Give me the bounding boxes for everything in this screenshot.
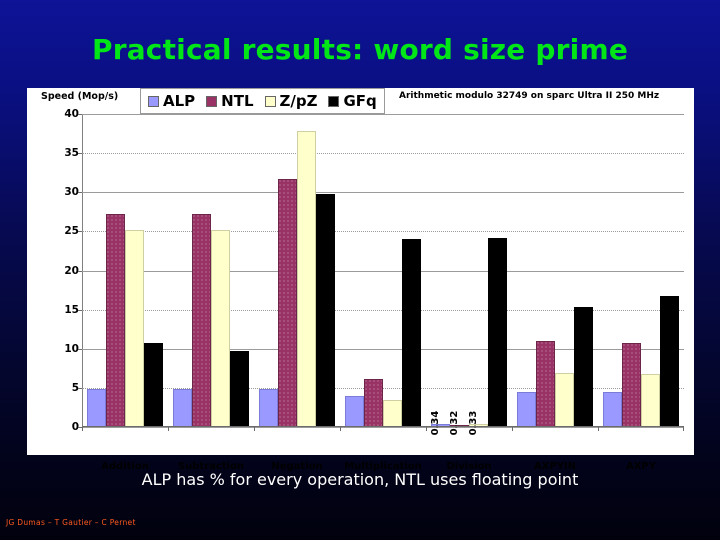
chart-legend: ALPNTLZ/pZGFq xyxy=(140,88,385,114)
x-tick-mark xyxy=(340,427,341,431)
x-tick-mark xyxy=(598,427,599,431)
bar-alp[interactable] xyxy=(173,389,192,427)
bar-ntl[interactable] xyxy=(364,379,383,428)
bars-container xyxy=(168,114,254,427)
x-tick-mark xyxy=(683,427,684,431)
bar-gfq[interactable] xyxy=(660,296,679,427)
y-tick-label: 20 xyxy=(39,265,79,277)
slide-footer: JG Dumas – T Gautier – C Pernet xyxy=(6,518,136,527)
bar-group: Subtraction xyxy=(168,114,254,427)
slide-canvas: Practical results: word size prime Speed… xyxy=(0,0,720,540)
bar-alp[interactable] xyxy=(603,392,622,427)
bar-z-pz[interactable] xyxy=(555,373,574,427)
bar-value-label: 0.34 xyxy=(430,411,441,436)
bar-value-label: 0.33 xyxy=(468,411,479,436)
bar-ntl[interactable] xyxy=(106,214,125,427)
legend-label: NTL xyxy=(221,94,253,109)
x-tick-mark xyxy=(512,427,513,431)
bar-alp[interactable] xyxy=(517,392,536,427)
bar-group: AXPYIN xyxy=(512,114,598,427)
x-axis-line xyxy=(82,426,684,427)
bar-group: 0.340.320.33Division xyxy=(426,114,512,427)
bar-gfq[interactable] xyxy=(488,238,507,427)
legend-item-gfq[interactable]: GFq xyxy=(328,94,376,109)
bar-alp[interactable] xyxy=(87,389,106,427)
legend-item-z-pz[interactable]: Z/pZ xyxy=(265,94,318,109)
legend-label: Z/pZ xyxy=(280,94,318,109)
y-tick-label: 15 xyxy=(39,304,79,316)
bar-z-pz[interactable] xyxy=(297,131,316,427)
gridline xyxy=(82,427,684,428)
plot-area: 0510152025303540 AdditionSubtractionNega… xyxy=(82,114,684,427)
y-tick-label: 0 xyxy=(39,421,79,433)
x-tick-mark xyxy=(82,427,83,431)
bars-container xyxy=(512,114,598,427)
bar-group: Negation xyxy=(254,114,340,427)
bar-ntl[interactable] xyxy=(278,179,297,427)
bar-group: Addition xyxy=(82,114,168,427)
bar-ntl[interactable] xyxy=(622,343,641,427)
bar-value-label: 0.32 xyxy=(449,411,460,436)
y-tick-label: 25 xyxy=(39,225,79,237)
bar-alp[interactable] xyxy=(345,396,364,427)
bar-groups: AdditionSubtractionNegationMultiplicatio… xyxy=(82,114,684,427)
legend-swatch-icon xyxy=(328,96,339,107)
bar-z-pz[interactable] xyxy=(211,230,230,427)
legend-label: ALP xyxy=(163,94,195,109)
bar-z-pz[interactable] xyxy=(641,374,660,427)
bar-gfq[interactable] xyxy=(574,307,593,428)
bar-ntl[interactable] xyxy=(192,214,211,427)
chart-panel: Speed (Mop/s) Arithmetic modulo 32749 on… xyxy=(27,88,694,455)
bars-container xyxy=(254,114,340,427)
y-tick-label: 30 xyxy=(39,186,79,198)
bar-group: Multiplication xyxy=(340,114,426,427)
bars-container xyxy=(340,114,426,427)
bar-z-pz[interactable] xyxy=(125,230,144,427)
bars-container xyxy=(82,114,168,427)
x-tick-mark xyxy=(426,427,427,431)
bar-z-pz[interactable] xyxy=(383,400,402,427)
legend-label: GFq xyxy=(343,94,376,109)
bar-gfq[interactable] xyxy=(230,351,249,427)
bar-ntl[interactable] xyxy=(536,341,555,427)
bar-alp[interactable] xyxy=(259,389,278,427)
legend-swatch-icon xyxy=(148,96,159,107)
slide-caption: ALP has % for every operation, NTL uses … xyxy=(0,470,720,489)
legend-item-alp[interactable]: ALP xyxy=(148,94,195,109)
bars-container xyxy=(598,114,684,427)
bars-container: 0.340.320.33 xyxy=(426,114,512,427)
bar-gfq[interactable] xyxy=(144,343,163,428)
legend-swatch-icon xyxy=(206,96,217,107)
bar-group: AXPY xyxy=(598,114,684,427)
bar-gfq[interactable] xyxy=(316,194,335,427)
y-tick-label: 40 xyxy=(39,108,79,120)
chart-subtitle: Arithmetic modulo 32749 on sparc Ultra I… xyxy=(399,91,659,101)
y-axis-title: Speed (Mop/s) xyxy=(41,91,118,102)
y-tick-label: 10 xyxy=(39,343,79,355)
page-title: Practical results: word size prime xyxy=(0,33,720,66)
y-tick-label: 5 xyxy=(39,382,79,394)
legend-swatch-icon xyxy=(265,96,276,107)
bar-gfq[interactable] xyxy=(402,239,421,427)
y-tick-label: 35 xyxy=(39,147,79,159)
x-tick-mark xyxy=(254,427,255,431)
x-tick-mark xyxy=(168,427,169,431)
legend-item-ntl[interactable]: NTL xyxy=(206,94,253,109)
